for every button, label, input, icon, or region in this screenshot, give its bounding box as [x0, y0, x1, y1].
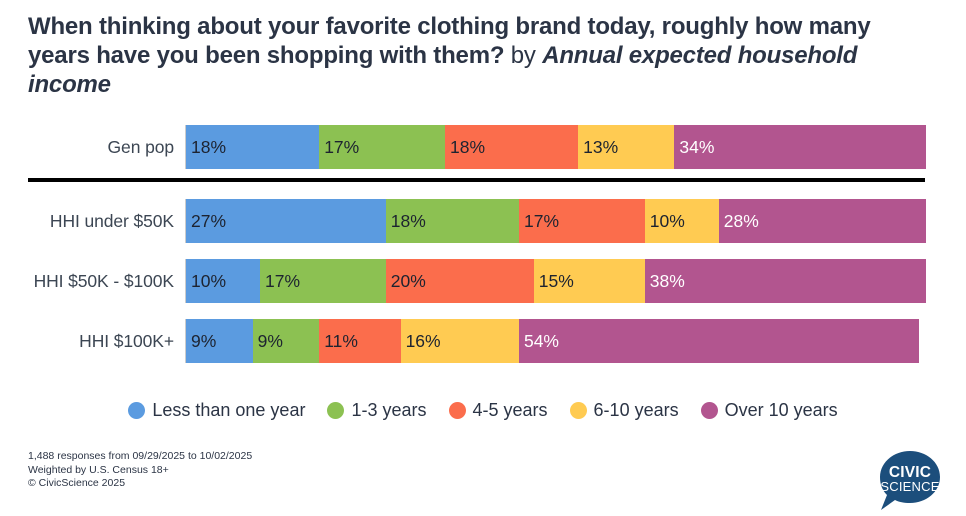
- chart-row: Gen pop18%17%18%13%34%: [0, 125, 966, 169]
- bar-segment[interactable]: 17%: [319, 125, 445, 169]
- stacked-bar: 18%17%18%13%34%: [186, 125, 926, 169]
- legend-item[interactable]: 6-10 years: [570, 400, 679, 421]
- footnote-weighting: Weighted by U.S. Census 18+: [28, 464, 252, 478]
- row-label: HHI $100K+: [0, 331, 185, 352]
- legend-item[interactable]: Over 10 years: [701, 400, 838, 421]
- legend-label: Over 10 years: [725, 400, 838, 421]
- bar-segment[interactable]: 16%: [401, 319, 519, 363]
- bar-segment[interactable]: 10%: [645, 199, 719, 243]
- bar-segment[interactable]: 17%: [519, 199, 645, 243]
- bar-segment[interactable]: 28%: [719, 199, 926, 243]
- legend-item[interactable]: Less than one year: [128, 400, 305, 421]
- chart-row: HHI $100K+9%9%11%16%54%: [0, 319, 966, 363]
- bar-segment[interactable]: 18%: [186, 125, 319, 169]
- chart-plot-area: Gen pop18%17%18%13%34%HHI under $50K27%1…: [0, 125, 966, 380]
- chart-row: HHI under $50K27%18%17%10%28%: [0, 199, 966, 243]
- legend-label: 4-5 years: [473, 400, 548, 421]
- bar-segment[interactable]: 17%: [260, 259, 386, 303]
- civicscience-logo: CIVIC SCIENCE: [876, 448, 944, 516]
- bar-segment[interactable]: 9%: [253, 319, 320, 363]
- bar-segment[interactable]: 54%: [519, 319, 919, 363]
- legend-label: 6-10 years: [594, 400, 679, 421]
- speech-bubble-icon: CIVIC SCIENCE: [876, 448, 944, 516]
- row-label: HHI $50K - $100K: [0, 271, 185, 292]
- footnote-responses: 1,488 responses from 09/29/2025 to 10/02…: [28, 450, 252, 464]
- bar-segment[interactable]: 20%: [386, 259, 534, 303]
- legend-swatch-icon: [128, 402, 145, 419]
- bar-segment[interactable]: 15%: [534, 259, 645, 303]
- bar-segment[interactable]: 18%: [445, 125, 578, 169]
- legend-label: 1-3 years: [351, 400, 426, 421]
- row-label: HHI under $50K: [0, 211, 185, 232]
- bar-segment[interactable]: 10%: [186, 259, 260, 303]
- legend-item[interactable]: 1-3 years: [327, 400, 426, 421]
- bar-segment[interactable]: 38%: [645, 259, 926, 303]
- legend-swatch-icon: [327, 402, 344, 419]
- title-by-word: by: [504, 42, 542, 69]
- legend-swatch-icon: [570, 402, 587, 419]
- chart-row: HHI $50K - $100K10%17%20%15%38%: [0, 259, 966, 303]
- chart-header: When thinking about your favorite clothi…: [28, 12, 928, 99]
- bar-segment[interactable]: 13%: [578, 125, 674, 169]
- bar-segment[interactable]: 11%: [319, 319, 400, 363]
- legend-swatch-icon: [449, 402, 466, 419]
- legend-item[interactable]: 4-5 years: [449, 400, 548, 421]
- stacked-bar: 9%9%11%16%54%: [186, 319, 926, 363]
- stacked-bar: 27%18%17%10%28%: [186, 199, 926, 243]
- legend-swatch-icon: [701, 402, 718, 419]
- bar-segment[interactable]: 27%: [186, 199, 386, 243]
- bar-segment[interactable]: 34%: [674, 125, 926, 169]
- gen-pop-separator: [28, 178, 925, 182]
- bar-segment[interactable]: 9%: [186, 319, 253, 363]
- stacked-bar: 10%17%20%15%38%: [186, 259, 926, 303]
- bar-segment[interactable]: 18%: [386, 199, 519, 243]
- legend-label: Less than one year: [152, 400, 305, 421]
- chart-legend: Less than one year1-3 years4-5 years6-10…: [0, 400, 966, 421]
- row-label: Gen pop: [0, 137, 185, 158]
- chart-footnote: 1,488 responses from 09/29/2025 to 10/02…: [28, 450, 252, 491]
- footnote-copyright: © CivicScience 2025: [28, 477, 252, 491]
- logo-line-science: SCIENCE: [880, 479, 939, 494]
- page-title: When thinking about your favorite clothi…: [28, 12, 928, 99]
